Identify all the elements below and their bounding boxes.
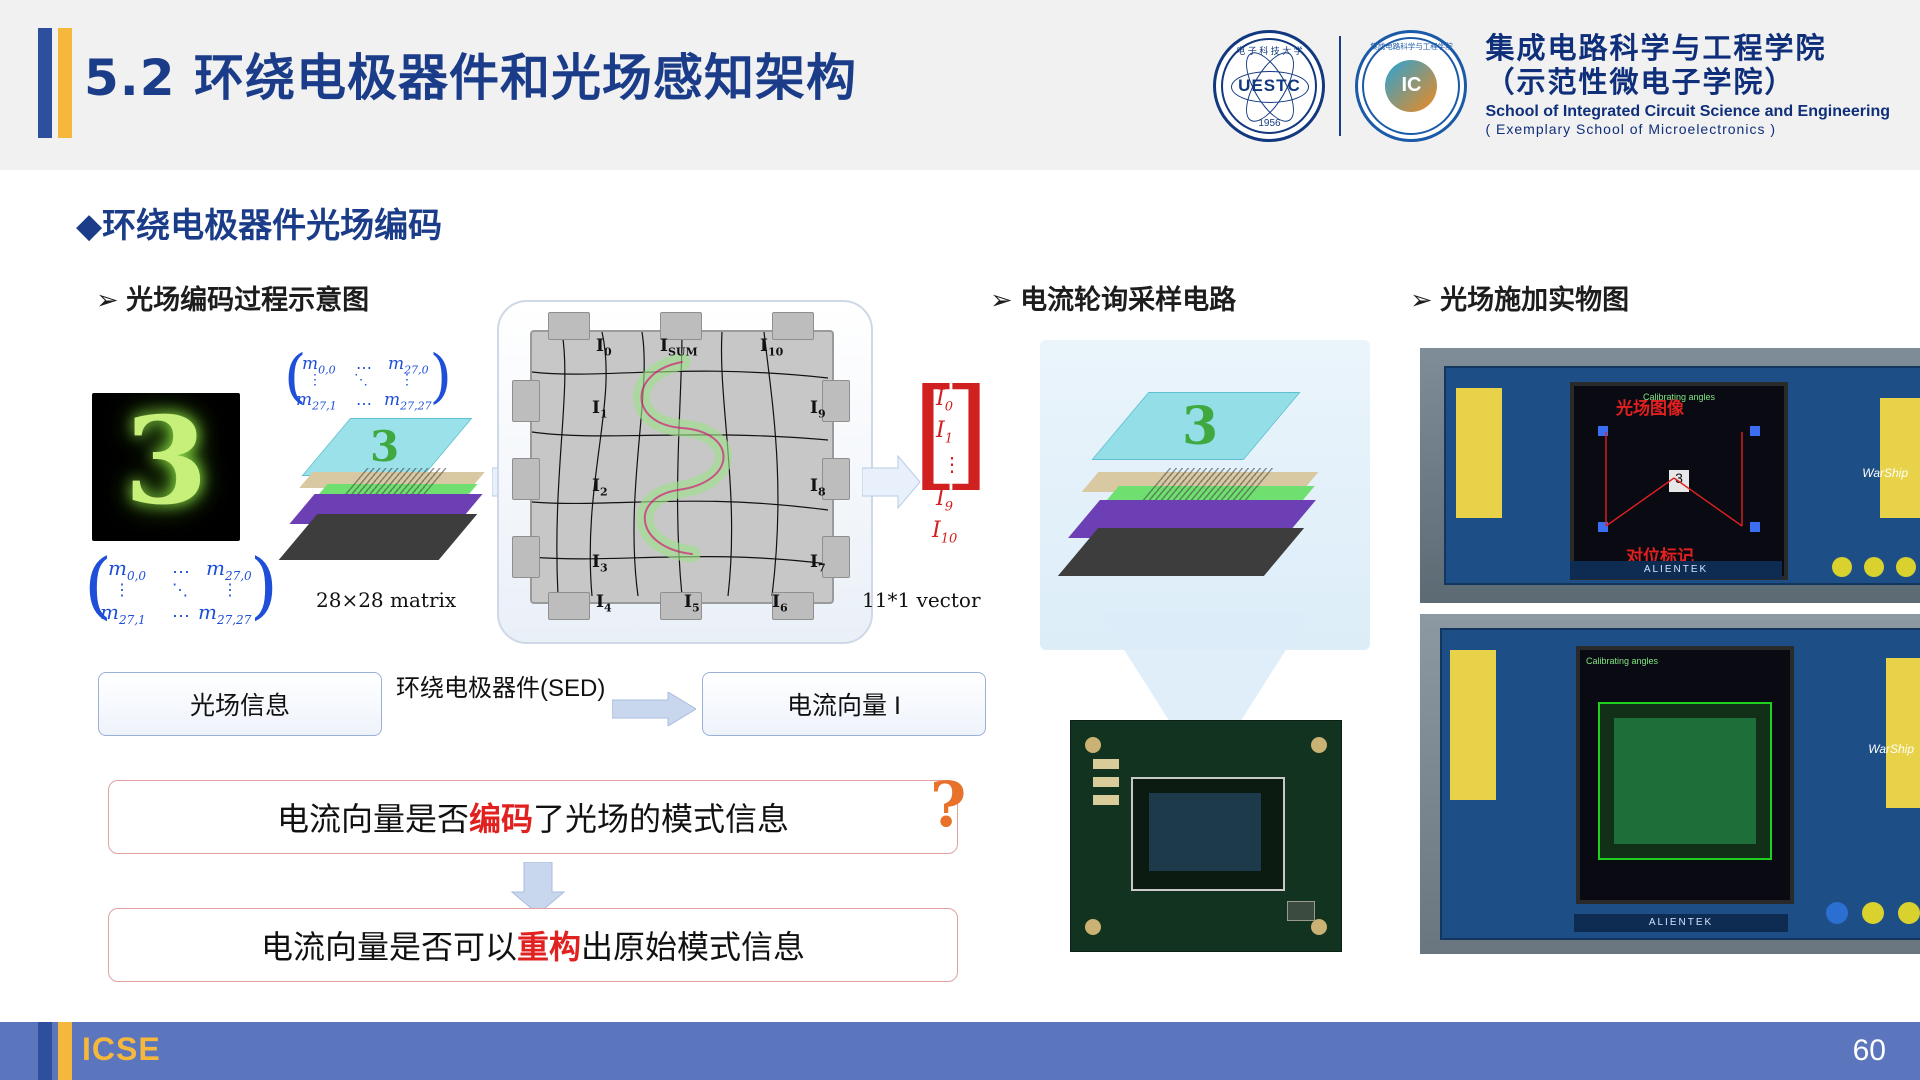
flow-output-label: 电流向量 I [787, 686, 901, 722]
sed-chip-panel [530, 330, 834, 604]
light-cone-icon [1080, 612, 1330, 727]
mount-hole-tr [1311, 737, 1327, 753]
subhead-marker-icon-3: ➢ [1410, 285, 1433, 315]
device-base-2 [1058, 528, 1304, 576]
question-box-encode: 电流向量是否编码了光场的模式信息 [108, 780, 958, 854]
footer-accent-blue [38, 1022, 52, 1080]
uestc-logo-year: 1956 [1258, 118, 1280, 129]
mount-hole-tl [1085, 737, 1101, 753]
icse-logo-icon: 集成电路科学与工程学院 IC [1355, 30, 1467, 142]
pad-top-0 [548, 312, 590, 340]
mnist-digit-value: 3 [124, 393, 208, 532]
subhead-marker-icon-1: ➢ [96, 285, 119, 315]
flow-box-input: 光场信息 [98, 672, 382, 736]
pad-left-3 [512, 536, 540, 578]
question-1-highlight: 编码 [469, 794, 533, 840]
pin-header-left-top [1456, 388, 1502, 518]
pin-header-right-top [1880, 398, 1920, 518]
subhead-photo: ➢ 光场施加实物图 [1410, 278, 1629, 317]
board-model-bottom: WarShip [1868, 742, 1914, 756]
pad-right-7 [822, 536, 850, 578]
button-yellow-3 [1832, 557, 1852, 577]
icse-logo-top-text: 集成电路科学与工程学院 [1370, 41, 1453, 52]
device-projected-digit: 3 [370, 422, 399, 471]
pad-label-bottom-6: I6 [772, 592, 788, 614]
footer-brand: ICSE [82, 1031, 161, 1068]
pad-label-bottom-5: I5 [684, 592, 700, 614]
device-projected-digit-2: 3 [1182, 396, 1218, 457]
pin-header-left-bottom [1450, 650, 1496, 800]
pad-label-right-8: I8 [810, 476, 826, 498]
pin-header-right-bottom [1886, 658, 1920, 808]
subhead-sampling-circuit: ➢ 电流轮询采样电路 [990, 278, 1236, 317]
pcb-component-1 [1093, 759, 1119, 769]
question-1-post: 了光场的模式信息 [533, 794, 789, 840]
green-pcb [1614, 718, 1756, 844]
pcb-component-3 [1093, 795, 1119, 805]
sed-device-illustration-left: 3 [286, 400, 496, 550]
question-2-highlight: 重构 [517, 922, 581, 968]
subhead-text-2: 电流轮询采样电路 [1020, 285, 1236, 315]
pad-label-top-0: I0 [596, 336, 612, 358]
org-line-4: ( Exemplary School of Microelectronics ) [1485, 121, 1890, 137]
slide-footer: ICSE 60 [0, 1012, 1920, 1080]
mount-hole-br [1311, 919, 1327, 935]
question-box-reconstruct: 电流向量是否可以重构出原始模式信息 [108, 908, 958, 982]
question-2-pre: 电流向量是否可以 [261, 922, 517, 968]
org-line-1: 集成电路科学与工程学院 [1485, 33, 1890, 66]
pcb-connector [1287, 901, 1315, 921]
icse-logo-center-text: IC [1385, 60, 1437, 112]
button-yellow-5 [1862, 902, 1884, 924]
footer-bar [0, 1022, 1920, 1080]
page-title: 5.2 环绕电极器件和光场感知架构 [84, 38, 857, 110]
board-brand-bottom: ALIENTEK [1574, 914, 1788, 932]
org-line-2: （示范性微电子学院） [1485, 67, 1890, 100]
flow-input-label: 光场信息 [190, 686, 290, 722]
section-heading: ◆环绕电极器件光场编码 [76, 198, 442, 247]
question-mark-icon: ? [930, 768, 966, 841]
pad-label-bottom-4: I4 [596, 592, 612, 614]
footer-accent-gold [58, 1022, 72, 1080]
question-2-post: 出原始模式信息 [581, 922, 805, 968]
matrix-caption: 28×28 matrix [316, 588, 456, 612]
uestc-logo-center-text: UESTC [1238, 76, 1301, 96]
subhead-marker-icon-2: ➢ [990, 285, 1013, 315]
board-model-top: WarShip [1862, 466, 1908, 480]
flow-arrow-label: 环绕电极器件(SED) [396, 668, 605, 703]
vector-caption: 11*1 vector [862, 588, 981, 612]
button-blue-1 [1826, 902, 1848, 924]
lcd-status-text-bottom: Calibrating angles [1586, 656, 1658, 666]
pad-bottom-4 [548, 592, 590, 620]
pcb-component-2 [1093, 777, 1119, 787]
button-yellow-1 [1896, 557, 1916, 577]
subhead-text-1: 光场编码过程示意图 [126, 285, 369, 315]
flow-box-output: 电流向量 I [702, 672, 986, 736]
sensor-die-inner [1149, 793, 1261, 871]
subhead-encoding-process: ➢ 光场编码过程示意图 [96, 278, 369, 317]
org-line-3: School of Integrated Circuit Science and… [1485, 103, 1890, 121]
lcd-screen-bottom: Calibrating angles [1576, 646, 1794, 904]
button-yellow-2 [1864, 557, 1884, 577]
pad-left-1 [512, 380, 540, 422]
current-vector: [ ] I0 I1 ⋮ I9 I10 [912, 382, 990, 562]
pad-right-8 [822, 458, 850, 500]
pad-label-top-sum: ISUM [660, 336, 698, 358]
uestc-logo-top-text: 电 子 科 技 大 学 [1236, 44, 1303, 57]
flow-arrow-icon [612, 692, 696, 731]
pad-label-left-3: I3 [592, 552, 608, 574]
pad-label-right-7: I7 [810, 552, 826, 574]
page-number: 60 [1853, 1034, 1886, 1068]
sed-device-illustration-middle: 3 [1060, 380, 1350, 580]
mnist-digit-image: 3 [92, 393, 240, 541]
matrix-bottom: ( ) m0,0 ⋯ m27,0 ⋮ ⋱ ⋮ m27,1 ⋯ m27,27 [86, 552, 276, 630]
pad-label-left-2: I2 [592, 476, 608, 498]
chip-field-lines [532, 332, 828, 598]
overlay-label-light-field: 光场图像 [1616, 394, 1684, 419]
pad-right-9 [822, 380, 850, 422]
pad-label-left-1: I1 [592, 398, 608, 420]
photo-light-field-setup-bottom: Calibrating angles ALIENTEK WarShip [1420, 614, 1920, 954]
question-1-pre: 电流向量是否 [277, 794, 469, 840]
board-brand-top: ALIENTEK [1570, 561, 1782, 579]
pad-label-top-10: I10 [760, 336, 783, 358]
photo-light-field-setup-top: Calibrating angles 3 光场图像 对位标记 ALIENTEK … [1420, 348, 1920, 603]
pad-left-2 [512, 458, 540, 500]
section-bullet-icon: ◆ [76, 207, 102, 245]
uestc-logo-icon: 电 子 科 技 大 学 UESTC 1956 [1213, 30, 1325, 142]
subhead-text-3: 光场施加实物图 [1440, 285, 1629, 315]
logo-divider [1339, 36, 1341, 136]
button-yellow-4 [1898, 902, 1920, 924]
module-under-test [1598, 702, 1772, 860]
sampling-circuit-photo [1070, 720, 1342, 952]
org-name-block: 集成电路科学与工程学院 （示范性微电子学院） School of Integra… [1485, 33, 1890, 137]
header-accent-gold [58, 28, 72, 138]
slide-header: 5.2 环绕电极器件和光场感知架构 电 子 科 技 大 学 UESTC 1956… [0, 0, 1920, 170]
pad-label-right-9: I9 [810, 398, 826, 420]
mount-hole-bl [1085, 919, 1101, 935]
logo-area: 电 子 科 技 大 学 UESTC 1956 集成电路科学与工程学院 IC 集成… [1213, 18, 1890, 153]
section-heading-text: 环绕电极器件光场编码 [102, 207, 442, 245]
header-accent-blue [38, 28, 52, 138]
